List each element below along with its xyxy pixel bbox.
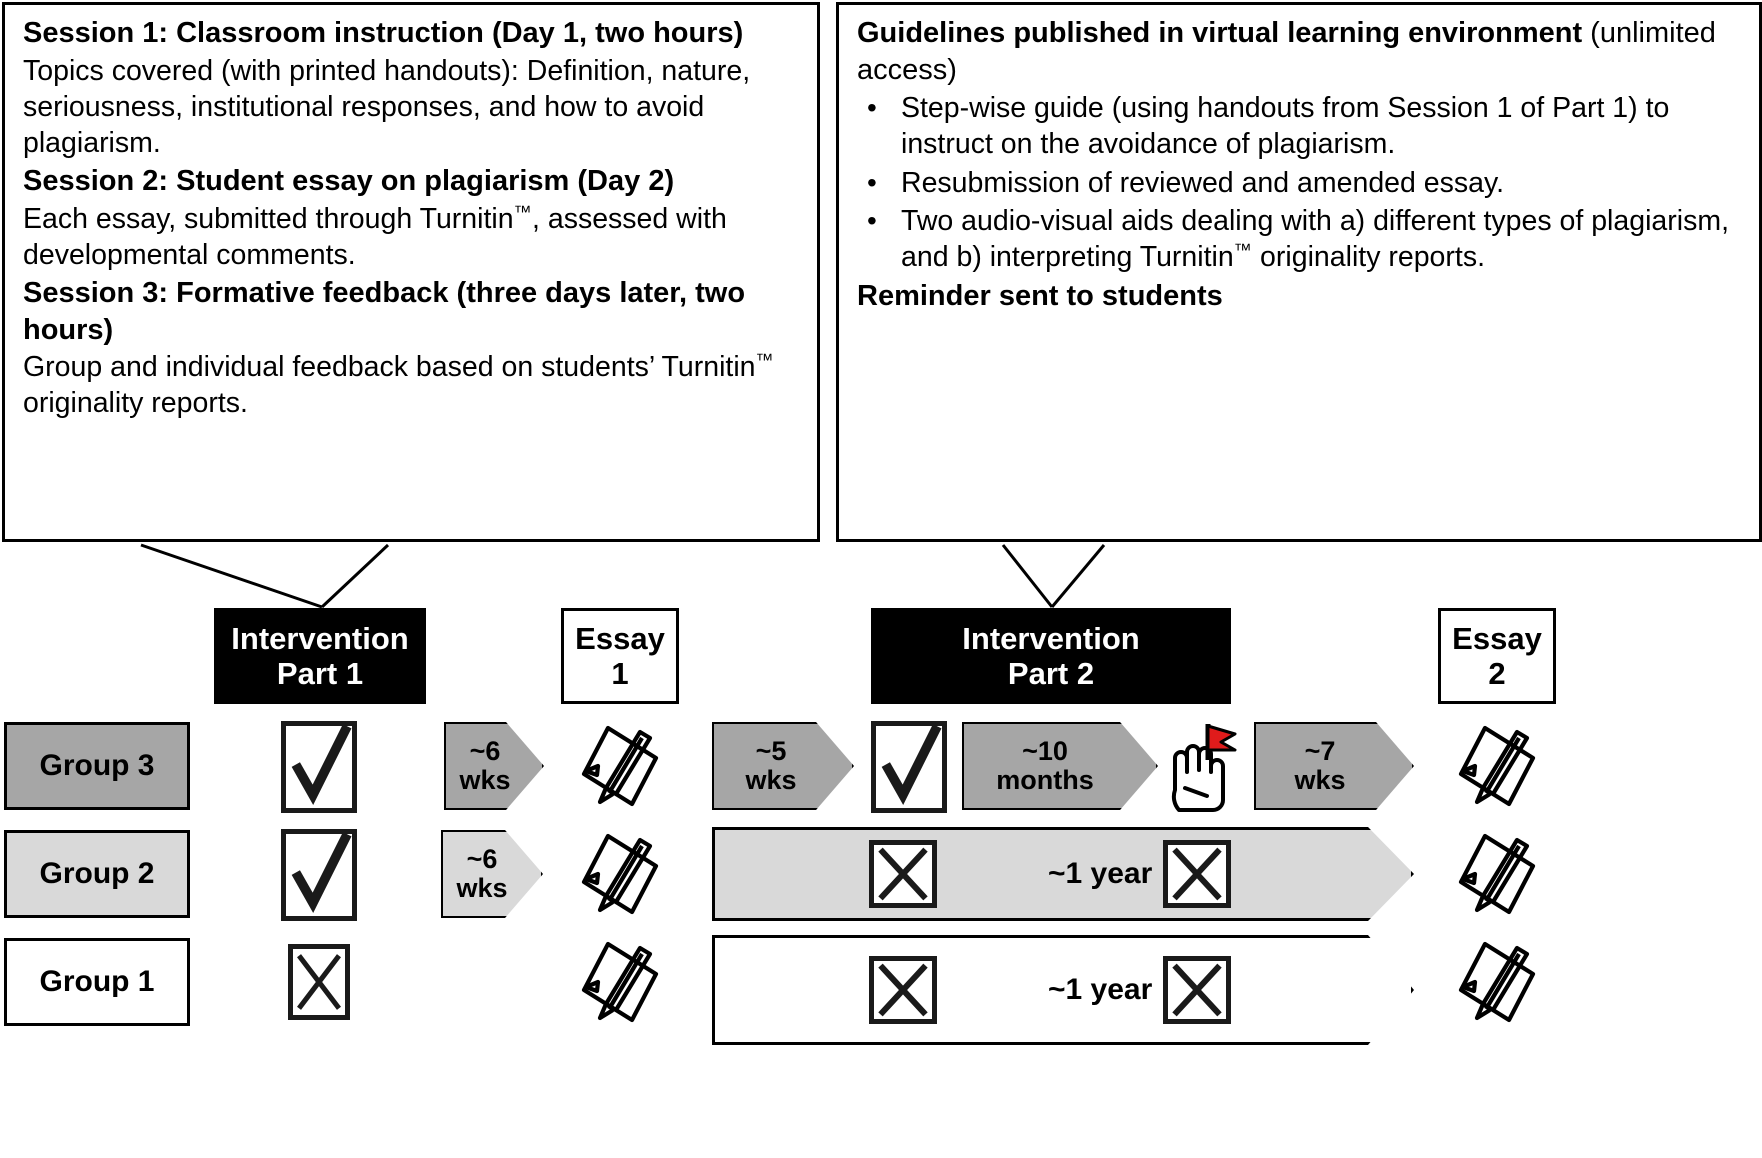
- group-3-reminder-icon: [1163, 718, 1239, 814]
- essay-pen-paper-icon: [1455, 830, 1541, 918]
- essay-pen-paper-icon: [578, 722, 664, 810]
- group-3-essay-1-icon: [578, 722, 664, 810]
- essay-1-line2: 1: [575, 656, 665, 691]
- group-2-label-text: Group 2: [39, 857, 154, 891]
- cross-icon: [874, 961, 932, 1019]
- group-2-part2-cross-box-left: [869, 840, 937, 908]
- intervention-part-1-line2: Part 1: [231, 656, 408, 691]
- group-1-part2-cross-box-right: [1163, 956, 1231, 1024]
- essay-1-header: Essay 1: [561, 608, 679, 704]
- study-timeline: Intervention Part 1 Essay 1 Intervention…: [0, 0, 1762, 1158]
- essay-pen-paper-icon: [1455, 938, 1541, 1026]
- group-2-part2-band: ~1 year: [712, 827, 1414, 921]
- group-1-label-text: Group 1: [39, 965, 154, 999]
- group-1-part2-band: ~1 year: [712, 935, 1414, 1045]
- group-1-label: Group 1: [4, 938, 190, 1026]
- group-3-gap-4-arrow: ~7 wks: [1254, 722, 1414, 810]
- group-3-gap-3-line1: ~10: [996, 737, 1094, 766]
- group-3-gap-4-line2: wks: [1294, 766, 1345, 795]
- group-1-band-label: ~1 year: [1048, 973, 1152, 1007]
- group-2-essay-2-icon: [1455, 830, 1541, 918]
- group-2-band-label: ~1 year: [1048, 857, 1152, 891]
- group-3-gap-1-line2: wks: [459, 766, 510, 795]
- essay-2-line2: 2: [1452, 656, 1542, 691]
- group-1-essay-1-icon: [578, 938, 664, 1026]
- group-3-gap-3-arrow: ~10 months: [962, 722, 1158, 810]
- group-3-gap-1-arrow: ~6 wks: [444, 722, 544, 810]
- group-3-gap-1-line1: ~6: [459, 737, 510, 766]
- group-2-label: Group 2: [4, 830, 190, 918]
- intervention-part-2-header: Intervention Part 2: [871, 608, 1231, 704]
- hand-with-red-flag-reminder-icon: [1163, 718, 1239, 814]
- group-3-label: Group 3: [4, 722, 190, 810]
- essay-2-line1: Essay: [1452, 621, 1542, 656]
- essay-1-line1: Essay: [575, 621, 665, 656]
- intervention-part-2-line2: Part 2: [962, 656, 1139, 691]
- intervention-part-1-header: Intervention Part 1: [214, 608, 426, 704]
- group-2-gap-1-line1: ~6: [456, 845, 507, 874]
- cross-icon: [293, 949, 345, 1015]
- essay-pen-paper-icon: [1455, 722, 1541, 810]
- check-icon: [876, 726, 942, 808]
- check-icon: [286, 834, 352, 916]
- cross-icon: [1168, 961, 1226, 1019]
- essay-pen-paper-icon: [578, 830, 664, 918]
- group-1-essay-2-icon: [1455, 938, 1541, 1026]
- group-3-essay-2-icon: [1455, 722, 1541, 810]
- group-3-gap-4-line1: ~7: [1294, 737, 1345, 766]
- group-3-label-text: Group 3: [39, 749, 154, 783]
- group-2-essay-1-icon: [578, 830, 664, 918]
- cross-icon: [1168, 845, 1226, 903]
- group-2-gap-1-arrow: ~6 wks: [441, 830, 543, 918]
- intervention-part-2-line1: Intervention: [962, 621, 1139, 656]
- group-3-part1-check-box: [281, 721, 357, 813]
- group-3-gap-2-line2: wks: [745, 766, 796, 795]
- group-2-part2-cross-box-right: [1163, 840, 1231, 908]
- check-icon: [286, 726, 352, 808]
- group-2-gap-1-line2: wks: [456, 874, 507, 903]
- group-1-part1-cross-box: [288, 944, 350, 1020]
- group-3-gap-2-line1: ~5: [745, 737, 796, 766]
- intervention-part-1-line1: Intervention: [231, 621, 408, 656]
- essay-2-header: Essay 2: [1438, 608, 1556, 704]
- group-3-part2-check-box: [871, 721, 947, 813]
- group-2-part1-check-box: [281, 829, 357, 921]
- cross-icon: [874, 845, 932, 903]
- group-3-gap-3-line2: months: [996, 766, 1094, 795]
- essay-pen-paper-icon: [578, 938, 664, 1026]
- group-1-part2-cross-box-left: [869, 956, 937, 1024]
- group-3-gap-2-arrow: ~5 wks: [712, 722, 854, 810]
